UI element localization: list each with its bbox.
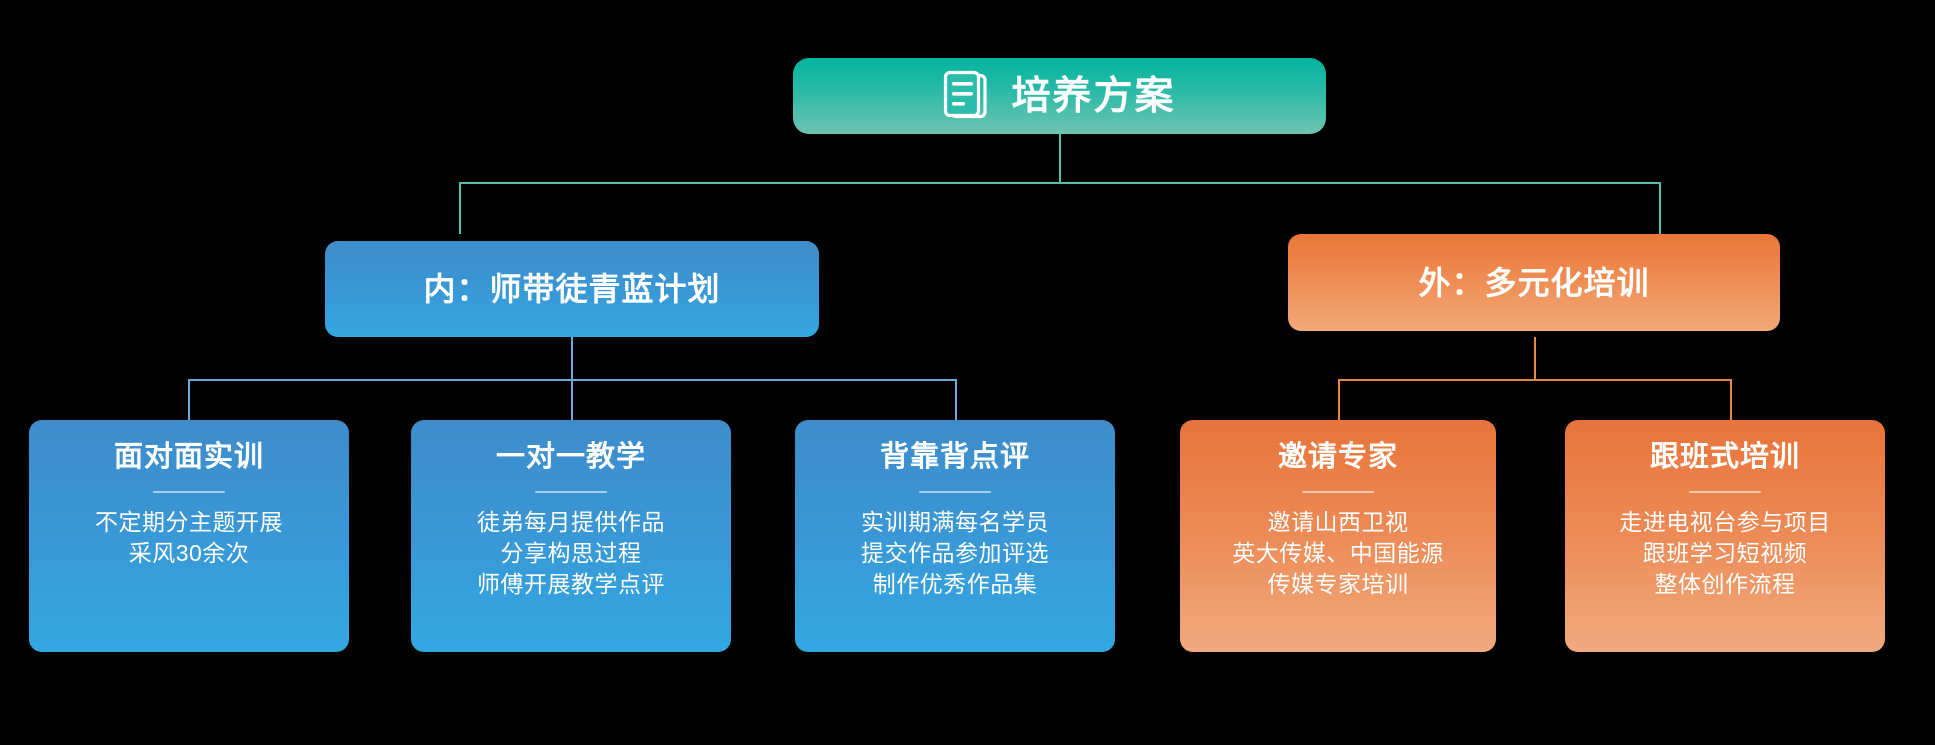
- branch-internal-label: 内：师带徒青蓝计划: [423, 273, 720, 305]
- document-icon: [943, 70, 989, 122]
- connector-internal-stem: [571, 337, 573, 380]
- leaf-body-line: 提交作品参加评选: [861, 538, 1049, 569]
- leaf-divider: [1302, 491, 1374, 493]
- leaf-body: 徒弟每月提供作品 分享构思过程 师傅开展教学点评: [477, 507, 665, 601]
- node-leaf-invite-expert[interactable]: 邀请专家 邀请山西卫视 英大传媒、中国能源 传媒专家培训: [1180, 420, 1496, 652]
- leaf-body-line: 英大传媒、中国能源: [1232, 538, 1444, 569]
- leaf-body-line: 不定期分主题开展: [95, 507, 283, 538]
- connector-root-stem: [1059, 133, 1061, 183]
- node-leaf-face-to-face[interactable]: 面对面实训 不定期分主题开展 采风30余次: [29, 420, 349, 652]
- leaf-body-line: 采风30余次: [95, 538, 283, 569]
- leaf-body: 邀请山西卫视 英大传媒、中国能源 传媒专家培训: [1232, 507, 1444, 601]
- leaf-body-line: 实训期满每名学员: [861, 507, 1049, 538]
- leaf-body-line: 师傅开展教学点评: [477, 569, 665, 600]
- leaf-divider: [1689, 491, 1761, 493]
- leaf-divider: [535, 491, 607, 493]
- connector-external-to-leaf-2: [1730, 379, 1732, 421]
- root-node-label: 培养方案: [1011, 77, 1175, 116]
- connector-internal-to-leaf-1: [188, 379, 190, 421]
- node-root-training-plan[interactable]: 培养方案: [793, 58, 1326, 134]
- leaf-divider: [919, 491, 991, 493]
- connector-external-to-leaf-1: [1338, 379, 1340, 421]
- leaf-title: 邀请专家: [1278, 442, 1398, 474]
- leaf-body-line: 制作优秀作品集: [861, 569, 1049, 600]
- leaf-body-line: 分享构思过程: [477, 538, 665, 569]
- leaf-body: 不定期分主题开展 采风30余次: [95, 507, 283, 570]
- node-branch-external[interactable]: 外：多元化培训: [1288, 234, 1780, 331]
- leaf-title: 跟班式培训: [1650, 442, 1800, 474]
- connector-root-to-internal: [459, 182, 461, 234]
- connector-root-to-external: [1659, 182, 1661, 234]
- leaf-body: 实训期满每名学员 提交作品参加评选 制作优秀作品集: [861, 507, 1049, 601]
- leaf-divider: [153, 491, 225, 493]
- node-branch-internal[interactable]: 内：师带徒青蓝计划: [325, 241, 819, 337]
- connector-internal-to-leaf-3: [955, 379, 957, 421]
- node-leaf-shadow-training[interactable]: 跟班式培训 走进电视台参与项目 跟班学习短视频 整体创作流程: [1565, 420, 1885, 652]
- leaf-body-line: 徒弟每月提供作品: [477, 507, 665, 538]
- leaf-body-line: 邀请山西卫视: [1232, 507, 1444, 538]
- connector-internal-to-leaf-2: [571, 379, 573, 421]
- leaf-body-line: 传媒专家培训: [1232, 569, 1444, 600]
- leaf-title: 背靠背点评: [880, 442, 1030, 474]
- leaf-body: 走进电视台参与项目 跟班学习短视频 整体创作流程: [1619, 507, 1831, 601]
- diagram-canvas: 培养方案 内：师带徒青蓝计划 外：多元化培训 面对面实训 不定期分主题开展 采风…: [0, 0, 1935, 745]
- branch-external-label: 外：多元化培训: [1418, 267, 1649, 299]
- leaf-body-line: 整体创作流程: [1619, 569, 1831, 600]
- leaf-title: 一对一教学: [496, 442, 646, 474]
- connector-root-bar: [459, 182, 1661, 184]
- connector-external-bar: [1338, 379, 1732, 381]
- leaf-title: 面对面实训: [114, 442, 264, 474]
- node-leaf-one-on-one[interactable]: 一对一教学 徒弟每月提供作品 分享构思过程 师傅开展教学点评: [411, 420, 731, 652]
- node-leaf-back-to-back[interactable]: 背靠背点评 实训期满每名学员 提交作品参加评选 制作优秀作品集: [795, 420, 1115, 652]
- connector-external-stem: [1534, 337, 1536, 380]
- leaf-body-line: 跟班学习短视频: [1619, 538, 1831, 569]
- leaf-body-line: 走进电视台参与项目: [1619, 507, 1831, 538]
